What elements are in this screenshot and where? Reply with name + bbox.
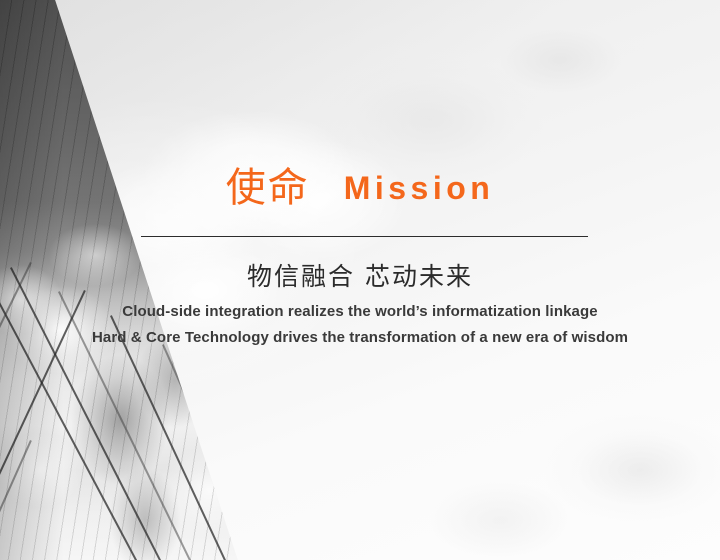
tagline-line-1: Cloud-side integration realizes the worl…: [0, 303, 720, 320]
banner-content: 使命Mission 物信融合 芯动未来 Cloud-side integrati…: [0, 0, 720, 560]
page-title: 使命Mission: [0, 168, 720, 208]
title-divider: [141, 236, 588, 237]
page-title-chinese: 使命: [226, 165, 310, 211]
mission-banner: 使命Mission 物信融合 芯动未来 Cloud-side integrati…: [0, 0, 720, 560]
page-title-english: Mission: [344, 170, 495, 206]
subtitle-chinese: 物信融合 芯动未来: [0, 257, 720, 293]
tagline-line-2: Hard & Core Technology drives the transf…: [0, 329, 720, 346]
